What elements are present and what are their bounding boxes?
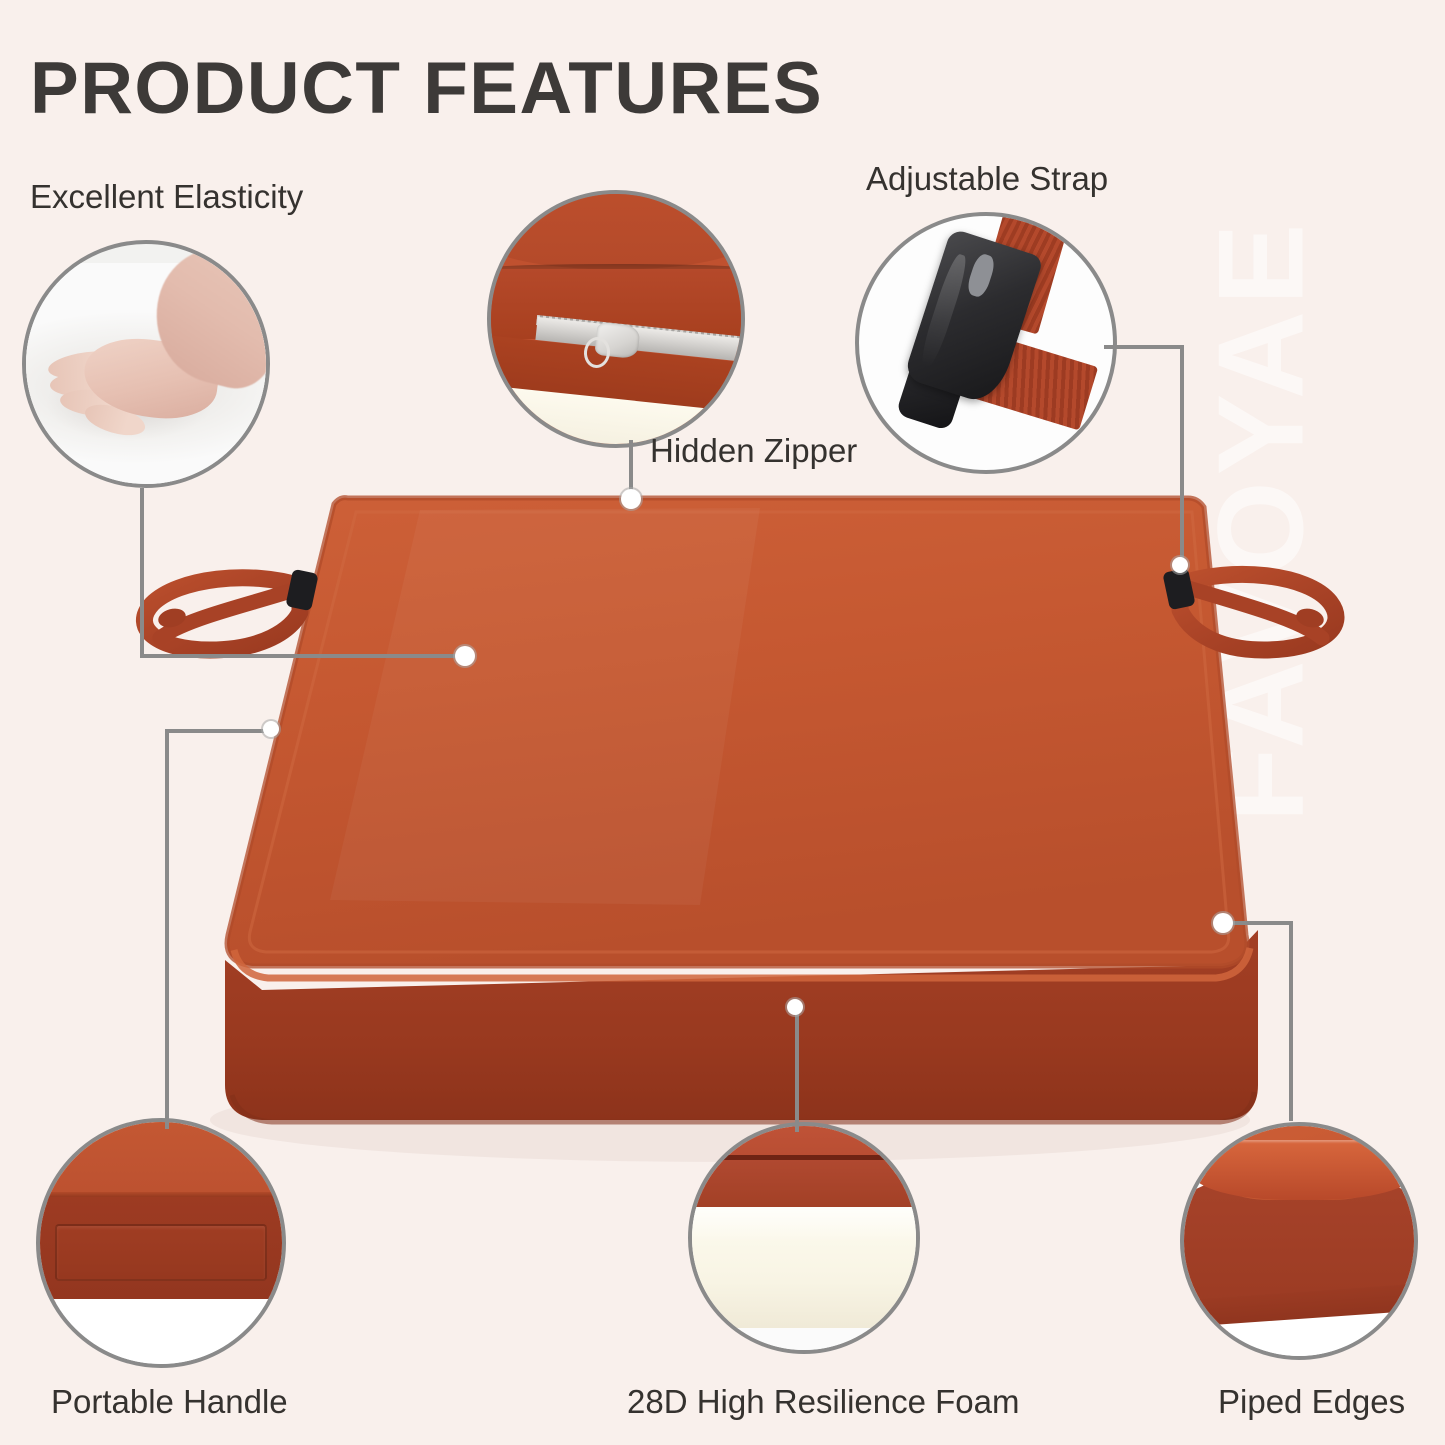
infographic-canvas: FAVOYAE PRODUCT FEATURES (0, 0, 1445, 1445)
callout-portable-handle (36, 1118, 286, 1368)
leader-handle-horizontal (165, 729, 275, 733)
leader-dot-strap (1172, 557, 1188, 573)
feature-label-hidden-zipper: Hidden Zipper (650, 432, 857, 470)
callout-piped-edges (1180, 1122, 1418, 1360)
callout-adjustable-strap (855, 212, 1117, 474)
leader-strap-vertical (1180, 345, 1184, 571)
leader-dot-elasticity (455, 646, 475, 666)
leader-dot-handle (263, 721, 279, 737)
leader-elasticity-horizontal (140, 654, 465, 658)
feature-label-adjustable-strap: Adjustable Strap (866, 160, 1108, 198)
feature-label-portable-handle: Portable Handle (51, 1383, 288, 1421)
feature-label-excellent-elasticity: Excellent Elasticity (30, 178, 303, 216)
leader-foam-vertical (795, 1008, 799, 1132)
leader-dot-foam (787, 999, 803, 1015)
leader-handle-vertical (165, 729, 169, 1129)
callout-high-resilience-foam (688, 1122, 920, 1354)
callout-hidden-zipper (487, 190, 745, 448)
leader-dot-zipper (621, 489, 641, 509)
leader-piped-vertical (1289, 921, 1293, 1121)
leader-elasticity-vertical (140, 488, 144, 658)
leader-dot-piped (1213, 913, 1233, 933)
callout-excellent-elasticity (22, 240, 270, 488)
leader-piped-horizontal (1225, 921, 1293, 925)
feature-label-piped-edges: Piped Edges (1218, 1383, 1405, 1421)
feature-label-high-resilience-foam: 28D High Resilience Foam (627, 1383, 1020, 1421)
leader-strap-horizontal (1104, 345, 1184, 349)
